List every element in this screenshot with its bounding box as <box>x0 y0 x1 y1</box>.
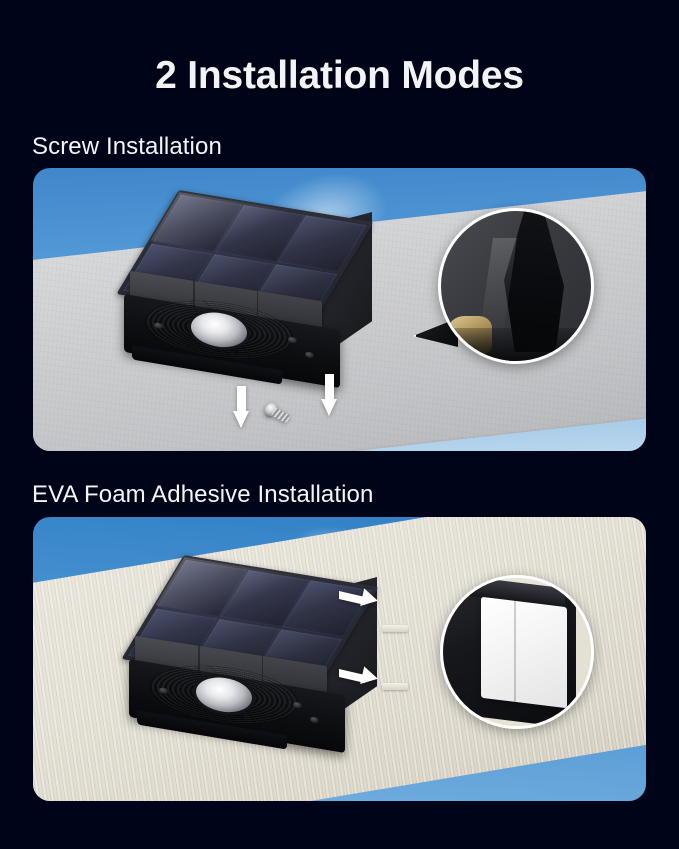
led-dot <box>310 716 319 724</box>
section-heading-screw: Screw Installation <box>32 133 222 161</box>
arrow-head <box>233 411 249 428</box>
eva-installation-photo <box>33 517 646 801</box>
solar-wall-light <box>108 200 378 395</box>
eva-foam-pad <box>481 596 567 707</box>
closeup-shadow <box>441 328 591 361</box>
screw-bracket-closeup <box>438 208 594 364</box>
eva-scene <box>33 517 646 801</box>
wall-bracket-tab <box>382 683 408 690</box>
arrow-head <box>360 588 380 609</box>
wall-bracket-tab <box>382 625 408 632</box>
screw-scene <box>33 168 646 451</box>
eva-foam-pad-seam <box>514 599 516 706</box>
page-title: 2 Installation Modes <box>0 52 679 100</box>
section-heading-eva: EVA Foam Adhesive Installation <box>32 481 373 509</box>
arrow-head <box>321 399 337 416</box>
arrow-shaft <box>237 386 246 413</box>
closeup-art <box>443 578 591 726</box>
led-dot <box>305 351 314 359</box>
right-arrow-upper <box>339 589 379 611</box>
screw-installation-photo <box>33 168 646 451</box>
arrow-shaft <box>325 374 334 401</box>
closeup-art <box>441 211 591 361</box>
eva-foam-pad-closeup <box>440 575 594 729</box>
down-arrow-left <box>233 386 250 428</box>
right-arrow-lower <box>339 667 379 689</box>
arrow-head <box>360 666 380 687</box>
infographic-page: 2 Installation Modes Screw Installation <box>0 0 679 849</box>
down-arrow-right <box>321 374 338 416</box>
